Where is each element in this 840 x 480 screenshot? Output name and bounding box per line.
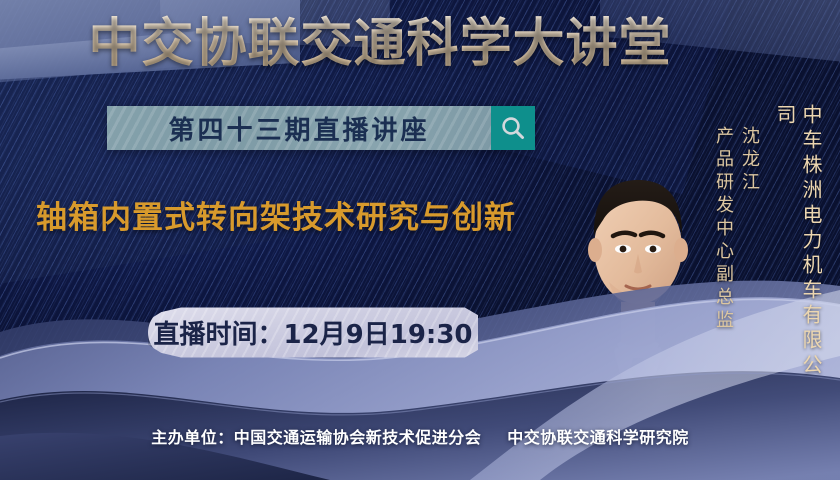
speaker-company: 中车株洲电力机车有限公司 xyxy=(772,104,824,384)
page-title: 中交协联交通科学大讲堂 xyxy=(0,14,760,74)
search-icon[interactable] xyxy=(491,106,535,150)
footer-organizers: 主办单位：中国交通运输协会新技术促进分会中交协联交通科学研究院 xyxy=(0,424,840,448)
live-stream-poster: 中交协联交通科学大讲堂 第四十三期直播讲座 轴箱内置式转向架技术研究与创新 直播… xyxy=(0,0,840,480)
speaker-info: 沈龙江 产品研发中心副总监 中车株洲电力机车有限公司 xyxy=(710,104,824,384)
lecture-topic: 轴箱内置式转向架技术研究与创新 xyxy=(36,196,596,240)
live-time-badge: 直播时间：12月9日19:30 xyxy=(148,307,478,358)
footer-organizer-2: 中交协联交通科学研究院 xyxy=(507,428,689,447)
subtitle-bar-background: 第四十三期直播讲座 xyxy=(107,106,491,150)
subtitle-label: 第四十三期直播讲座 xyxy=(168,110,429,147)
footer-prefix: 主办单位： xyxy=(151,428,234,447)
footer-organizer-1: 中国交通运输协会新技术促进分会 xyxy=(234,428,482,447)
speaker-name-and-title: 沈龙江 产品研发中心副总监 xyxy=(710,126,762,384)
speaker-title: 产品研发中心副总监 xyxy=(713,126,734,333)
subtitle-bar: 第四十三期直播讲座 xyxy=(107,106,535,150)
speaker-name: 沈龙江 xyxy=(736,126,762,368)
live-time-text: 直播时间：12月9日19:30 xyxy=(153,314,472,351)
